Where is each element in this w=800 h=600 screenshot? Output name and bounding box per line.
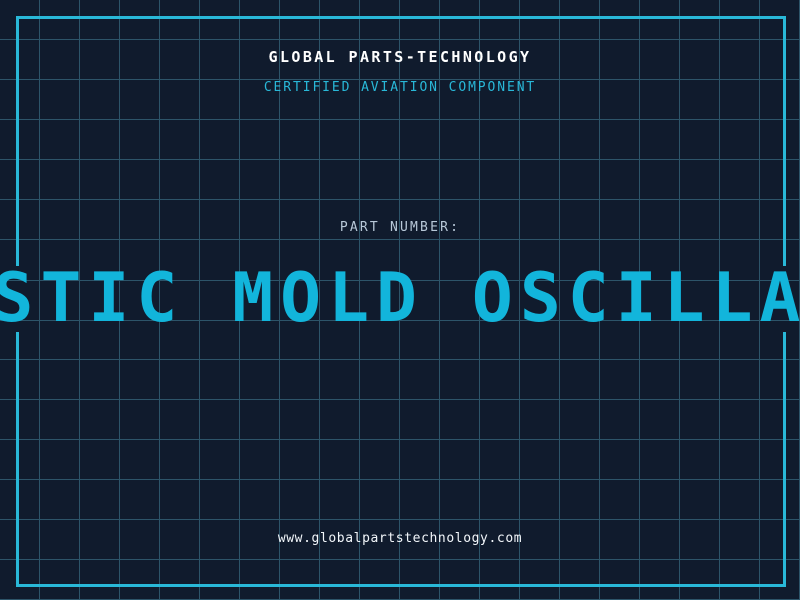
part-label-card: GLOBAL PARTS-TECHNOLOGY CERTIFIED AVIATI… <box>0 0 800 600</box>
headline-background-band <box>0 266 800 332</box>
frame-border-top <box>16 16 786 19</box>
brand-title: GLOBAL PARTS-TECHNOLOGY <box>0 48 800 66</box>
website-url: www.globalpartstechnology.com <box>0 531 800 546</box>
frame-border-bottom <box>16 584 786 587</box>
part-number-label: PART NUMBER: <box>0 220 800 235</box>
certification-subtitle: CERTIFIED AVIATION COMPONENT <box>0 80 800 95</box>
